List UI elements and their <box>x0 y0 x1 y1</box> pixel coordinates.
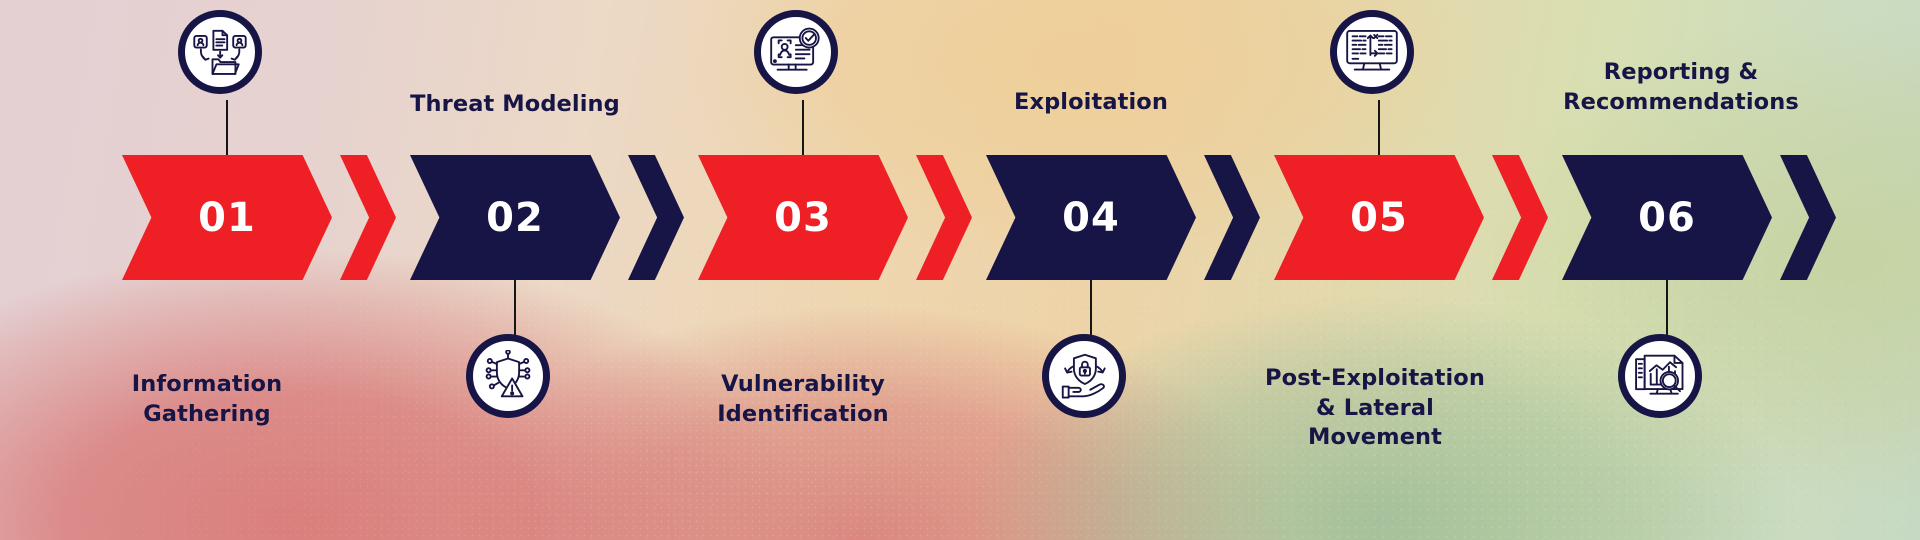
step-label-04: Exploitation <box>941 88 1241 118</box>
step-chevron-05[interactable]: 05 <box>1274 155 1548 280</box>
step-chevron-01[interactable]: 01 <box>122 155 396 280</box>
step-label-01: Information Gathering <box>57 370 357 429</box>
icon-badge-01[interactable] <box>178 10 262 94</box>
connector-line-05 <box>1378 100 1380 155</box>
monitor-code-arrows-icon <box>1345 27 1399 77</box>
step-chevron-accent-06 <box>1780 155 1836 280</box>
chevron-band: 010203040506 <box>0 155 1920 280</box>
hand-shield-lock-icon <box>1057 351 1111 401</box>
people-documents-folder-icon <box>193 27 247 77</box>
step-chevron-04[interactable]: 04 <box>986 155 1260 280</box>
connector-line-01 <box>226 100 228 155</box>
connector-line-04 <box>1090 280 1092 340</box>
step-number-05: 05 <box>1274 155 1484 280</box>
connector-line-06 <box>1666 280 1668 340</box>
step-chevron-03[interactable]: 03 <box>698 155 972 280</box>
connector-line-02 <box>514 280 516 340</box>
step-number-01: 01 <box>122 155 332 280</box>
step-chevron-accent-03 <box>916 155 972 280</box>
shield-circuit-warning-icon <box>482 350 534 402</box>
step-number-02: 02 <box>410 155 620 280</box>
icon-badge-02[interactable] <box>466 334 550 418</box>
step-chevron-06[interactable]: 06 <box>1562 155 1836 280</box>
icon-badge-04[interactable] <box>1042 334 1126 418</box>
step-label-03: Vulnerability Identification <box>653 370 953 429</box>
step-number-04: 04 <box>986 155 1196 280</box>
monitor-chart-magnifier-icon <box>1633 351 1687 401</box>
monitor-id-check-icon <box>769 27 823 77</box>
step-number-03: 03 <box>698 155 908 280</box>
icon-badge-05[interactable] <box>1330 10 1414 94</box>
step-label-02: Threat Modeling <box>365 90 665 120</box>
step-chevron-accent-04 <box>1204 155 1260 280</box>
process-infographic: 010203040506 Information Gathering Threa… <box>0 0 1920 540</box>
step-chevron-accent-05 <box>1492 155 1548 280</box>
icon-badge-03[interactable] <box>754 10 838 94</box>
step-chevron-accent-01 <box>340 155 396 280</box>
step-chevron-accent-02 <box>628 155 684 280</box>
step-number-06: 06 <box>1562 155 1772 280</box>
step-label-05: Post-Exploitation & Lateral Movement <box>1225 364 1525 453</box>
step-label-06: Reporting & Recommendations <box>1531 58 1831 117</box>
step-chevron-02[interactable]: 02 <box>410 155 684 280</box>
connector-line-03 <box>802 100 804 155</box>
icon-badge-06[interactable] <box>1618 334 1702 418</box>
